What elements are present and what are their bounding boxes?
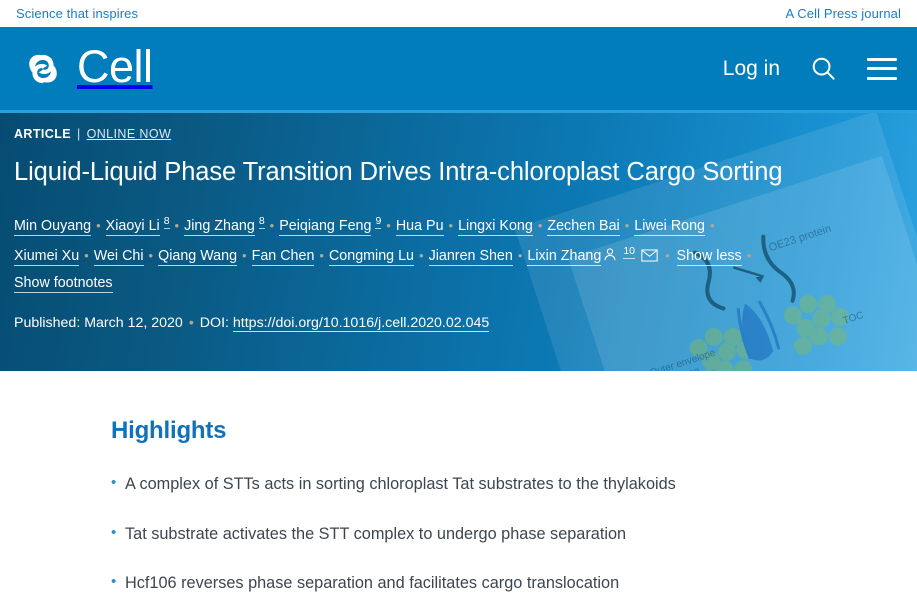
footnote-link[interactable]: 8 <box>164 215 170 229</box>
kicker-separator: | <box>77 127 81 141</box>
author-separator: • <box>96 212 101 240</box>
site-header: Cell Log in <box>0 27 917 110</box>
published-label: Published: <box>14 315 80 331</box>
person-icon[interactable] <box>603 243 617 273</box>
show-less-button[interactable]: Show less <box>677 248 742 266</box>
footnote-link[interactable]: 9 <box>375 215 381 229</box>
hamburger-menu-icon[interactable] <box>867 58 897 80</box>
search-icon[interactable] <box>810 55 837 82</box>
author-separator: • <box>419 242 424 270</box>
author-row-1: Min Ouyang•Xiaoyi Li 8•Jing Zhang 8•Peiq… <box>14 218 720 234</box>
highlight-item: Hcf106 reverses phase separation and fac… <box>111 572 760 596</box>
science-that-inspires-link[interactable]: Science that inspires <box>16 6 138 21</box>
brand-home-link[interactable]: Cell <box>22 44 153 93</box>
article-title: Liquid-Liquid Phase Transition Drives In… <box>14 157 804 189</box>
author-separator: • <box>665 242 670 270</box>
author-link[interactable]: Hua Pu <box>396 218 444 236</box>
author-link[interactable]: Wei Chi <box>94 248 144 266</box>
author-separator: • <box>84 242 89 270</box>
footnotes-row: Show footnotes <box>14 275 899 291</box>
brand-wordmark: Cell <box>77 44 153 93</box>
author-link[interactable]: Liwei Rong <box>634 218 705 236</box>
author-link[interactable]: Fan Chen <box>252 248 315 266</box>
pubinfo-separator: • <box>189 315 194 331</box>
highlights-list: A complex of STTs acts in sorting chloro… <box>111 473 760 596</box>
author-separator: • <box>149 242 154 270</box>
doi-label: DOI: <box>200 315 229 331</box>
svg-text:Outer envelope: Outer envelope <box>648 347 717 371</box>
show-footnotes-button[interactable]: Show footnotes <box>14 275 113 293</box>
author-separator: • <box>710 212 715 240</box>
utility-topbar: Science that inspires A Cell Press journ… <box>0 0 917 27</box>
author-link[interactable]: Qiang Wang <box>158 248 237 266</box>
author-link[interactable]: Zechen Bai <box>547 218 619 236</box>
author-link[interactable]: Peiqiang Feng <box>279 218 371 236</box>
hero-content: ARTICLE | ONLINE NOW Liquid-Liquid Phase… <box>14 127 899 331</box>
highlights-heading: Highlights <box>111 417 760 445</box>
author-separator: • <box>386 212 391 240</box>
author-separator: • <box>242 242 247 270</box>
author-separator: • <box>270 212 275 240</box>
kicker-status-link[interactable]: ONLINE NOW <box>87 127 172 141</box>
author-separator: • <box>625 212 630 240</box>
article-kicker: ARTICLE | ONLINE NOW <box>14 127 899 141</box>
author-separator: • <box>449 212 454 240</box>
author-link[interactable]: Min Ouyang <box>14 218 91 236</box>
author-link[interactable]: Jing Zhang <box>184 218 255 236</box>
author-separator: • <box>518 242 523 270</box>
cell-press-journal-link[interactable]: A Cell Press journal <box>786 6 901 21</box>
author-footnote-marker[interactable]: 8 <box>259 215 265 229</box>
footnote-link[interactable]: 10 <box>623 245 635 259</box>
cell-logo-icon <box>22 48 64 90</box>
header-actions: Log in <box>723 55 897 82</box>
author-separator: • <box>319 242 324 270</box>
corresponding-footnote-marker[interactable]: 10 <box>623 245 635 259</box>
author-footnote-marker[interactable]: 8 <box>164 215 170 229</box>
article-body-inner: Highlights A complex of STTs acts in sor… <box>0 417 760 596</box>
author-row-2: Xiumei Xu•Wei Chi•Qiang Wang•Fan Chen•Co… <box>14 248 756 264</box>
footnote-link[interactable]: 8 <box>259 215 265 229</box>
author-link[interactable]: Jianren Shen <box>429 248 513 266</box>
author-separator: • <box>747 242 752 270</box>
highlight-item: A complex of STTs acts in sorting chloro… <box>111 473 760 497</box>
article-body: Highlights A complex of STTs acts in sor… <box>0 371 917 596</box>
author-link[interactable]: Lingxi Kong <box>458 218 533 236</box>
kicker-type-label: ARTICLE <box>14 127 71 141</box>
author-separator: • <box>538 212 543 240</box>
article-hero: OE23 protein Outer envelope membrane Pro… <box>0 113 917 371</box>
svg-text:membrane: membrane <box>652 365 701 371</box>
author-list: Min Ouyang•Xiaoyi Li 8•Jing Zhang 8•Peiq… <box>14 211 774 274</box>
author-link[interactable]: Xiaoyi Li <box>106 218 160 236</box>
author-link[interactable]: Lixin Zhang <box>527 248 601 266</box>
hamburger-bars <box>867 58 897 80</box>
author-separator: • <box>175 212 180 240</box>
publication-info: Published: March 12, 2020•DOI: https://d… <box>14 315 899 331</box>
author-link[interactable]: Congming Lu <box>329 248 414 266</box>
envelope-icon[interactable] <box>641 243 658 273</box>
published-date: March 12, 2020 <box>84 315 183 331</box>
doi-link[interactable]: https://doi.org/10.1016/j.cell.2020.02.0… <box>233 315 489 332</box>
highlight-item: Tat substrate activates the STT complex … <box>111 523 760 547</box>
login-button[interactable]: Log in <box>723 57 780 81</box>
author-footnote-marker[interactable]: 9 <box>375 215 381 229</box>
author-link[interactable]: Xiumei Xu <box>14 248 79 266</box>
